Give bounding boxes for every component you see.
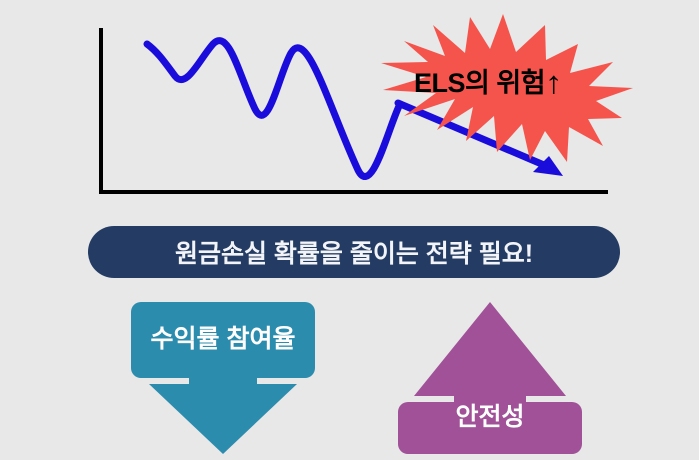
yield-participation-down-arrow: 수익률 참여율 bbox=[125, 296, 321, 460]
infographic-canvas: ELS의 위험 ↑ 원금손실 확률을 줄이는 전략 필요! 수익률 참여율 안전… bbox=[0, 0, 699, 460]
burst-label-text: ELS의 위험 bbox=[414, 70, 545, 97]
safety-up-arrow: 안전성 bbox=[392, 296, 588, 460]
down-arrow-shape-icon bbox=[125, 296, 321, 460]
burst-label: ELS의 위험 ↑ bbox=[414, 68, 561, 99]
strategy-banner: 원금손실 확률을 줄이는 전략 필요! bbox=[88, 226, 620, 278]
down-arrow-path bbox=[131, 302, 315, 454]
burst-up-arrow-icon: ↑ bbox=[545, 67, 562, 98]
up-arrow-shape-icon bbox=[392, 296, 588, 460]
strategy-banner-text: 원금손실 확률을 줄이는 전략 필요! bbox=[175, 234, 533, 270]
up-arrow-path bbox=[398, 302, 582, 454]
